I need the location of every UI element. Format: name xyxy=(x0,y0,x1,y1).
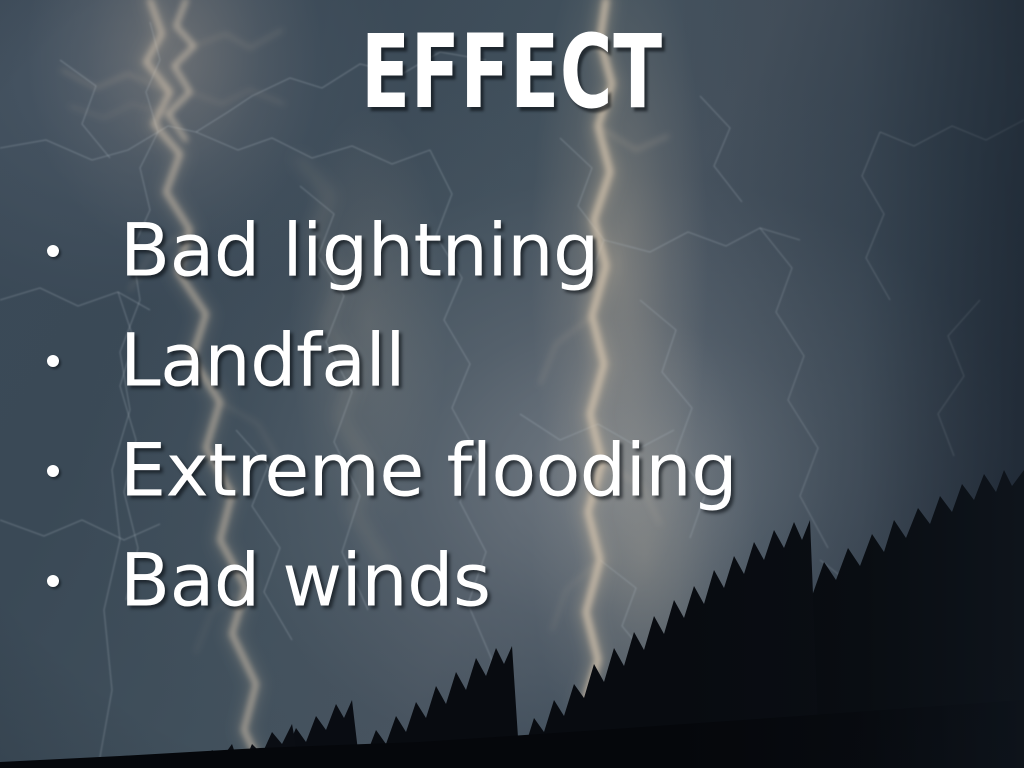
list-item: Bad winds xyxy=(0,526,1024,636)
bullet-dot-icon xyxy=(47,575,59,587)
list-item: Bad lightning xyxy=(0,196,1024,306)
list-item: Extreme flooding xyxy=(0,416,1024,526)
bullet-dot-icon xyxy=(47,355,59,367)
presentation-slide: EFFECT Bad lightning Landfall Extreme fl… xyxy=(0,0,1024,768)
list-item: Landfall xyxy=(0,306,1024,416)
bullet-text: Bad winds xyxy=(120,545,490,618)
bullet-list: Bad lightning Landfall Extreme flooding … xyxy=(0,196,1024,636)
bullet-text: Landfall xyxy=(120,325,405,398)
page-title: EFFECT xyxy=(113,22,912,124)
bullet-dot-icon xyxy=(47,465,59,477)
bullet-dot-icon xyxy=(47,245,59,257)
bullet-text: Extreme flooding xyxy=(120,435,737,508)
bullet-text: Bad lightning xyxy=(120,215,599,288)
